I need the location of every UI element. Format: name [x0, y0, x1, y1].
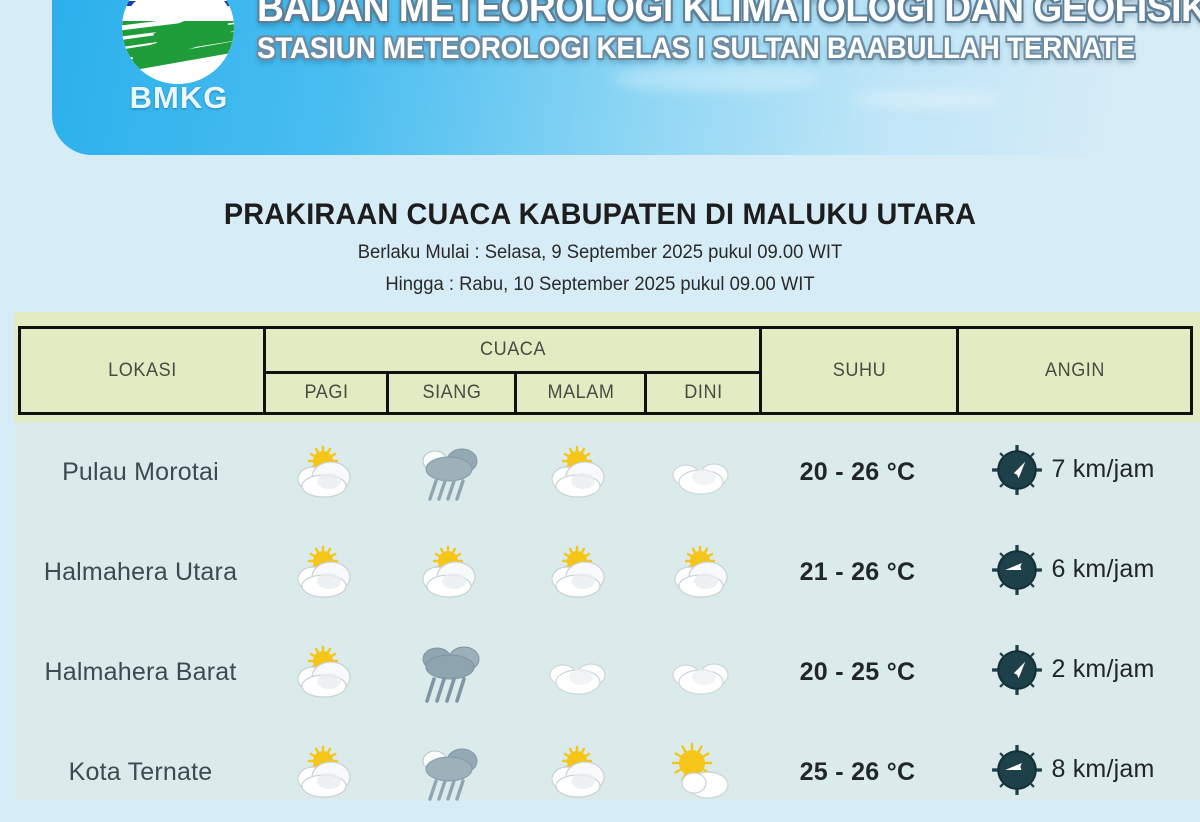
valid-from-text: Berlaku Mulai : Selasa, 9 September 2025… [18, 242, 1182, 264]
bmkg-logo-icon [122, 0, 234, 84]
col-header-angin: ANGIN [963, 328, 1185, 414]
cell-angin: 7 km/jam [956, 422, 1190, 522]
forecast-table-header: LOKASI CUACA SUHU ANGIN PAGI SIANG MALAM… [18, 326, 1193, 415]
compass-icon [991, 644, 1043, 696]
col-header-siang: SIANG [391, 373, 513, 414]
rain-icon [404, 739, 496, 805]
cell-cuaca-malam [514, 722, 644, 822]
partly-cloudy-icon [279, 539, 371, 605]
cell-cuaca-pagi [263, 422, 386, 522]
cloudy-icon [533, 639, 625, 705]
cell-lokasi: Halmahera Barat [18, 622, 263, 722]
cell-lokasi: Kota Ternate [18, 722, 263, 822]
cell-suhu: 20 - 26 °C [759, 422, 956, 522]
cell-angin: 8 km/jam [956, 722, 1190, 822]
partly-cloudy-icon [533, 539, 625, 605]
banner-title-group: BADAN METEOROLOGI KLIMATOLOGI DAN GEOFIS… [257, 0, 1200, 64]
bmkg-logo-text: BMKG [114, 80, 244, 116]
bmkg-logo: BMKG [114, 0, 244, 122]
cell-cuaca-siang [386, 622, 514, 722]
table-row: Halmahera Utara21 - 26 °C6 km/jam [18, 522, 1190, 622]
partly-cloudy-icon [533, 739, 625, 805]
col-header-dini: DINI [648, 373, 757, 414]
page-title: PRAKIRAAN CUACA KABUPATEN DI MALUKU UTAR… [24, 198, 1176, 232]
table-row: Halmahera Barat20 - 25 °C2 km/jam [18, 622, 1190, 722]
col-header-suhu: SUHU [765, 328, 952, 414]
partly-cloudy-icon [279, 739, 371, 805]
partly-cloudy-icon [404, 539, 496, 605]
compass-icon [991, 444, 1043, 496]
compass-icon [991, 744, 1043, 796]
logo-landscape [122, 21, 234, 84]
title-block: PRAKIRAAN CUACA KABUPATEN DI MALUKU UTAR… [0, 198, 1200, 296]
banner-wisp [612, 66, 822, 92]
cell-cuaca-pagi [263, 722, 386, 822]
table-row: Kota Ternate25 - 26 °C8 km/jam [18, 722, 1190, 822]
cell-cuaca-malam [514, 622, 644, 722]
cell-lokasi: Halmahera Utara [18, 522, 263, 622]
valid-to-text: Hingga : Rabu, 10 September 2025 pukul 0… [18, 274, 1182, 296]
cell-suhu: 20 - 25 °C [759, 622, 956, 722]
rain-icon [404, 439, 496, 505]
partly-cloudy-icon [656, 539, 748, 605]
cell-cuaca-malam [514, 422, 644, 522]
cell-cuaca-siang [386, 522, 514, 622]
forecast-table-body-wrap: Pulau Morotai20 - 26 °C7 km/jamHalmahera… [14, 422, 1200, 800]
cell-cuaca-siang [386, 422, 514, 522]
heavy-rain-icon [404, 639, 496, 705]
cell-cuaca-dini [644, 622, 759, 722]
station-name: STASIUN METEOROLOGI KELAS I SULTAN BAABU… [257, 33, 1187, 65]
mostly-sunny-icon [656, 739, 748, 805]
cell-cuaca-pagi [263, 522, 386, 622]
cell-angin: 2 km/jam [956, 622, 1190, 722]
cloudy-icon [656, 639, 748, 705]
cell-cuaca-dini [644, 522, 759, 622]
cell-cuaca-pagi [263, 622, 386, 722]
cell-cuaca-dini [644, 422, 759, 522]
cell-suhu: 25 - 26 °C [759, 722, 956, 822]
agency-name: BADAN METEOROLOGI KLIMATOLOGI DAN GEOFIS… [257, 0, 1187, 29]
partly-cloudy-icon [279, 439, 371, 505]
col-header-malam: MALAM [519, 373, 643, 414]
wind-speed-label: 2 km/jam [1051, 655, 1154, 684]
header-banner: BMKG BADAN METEOROLOGI KLIMATOLOGI DAN G… [52, 0, 1200, 155]
col-header-cuaca: CUACA [277, 328, 748, 373]
cloudy-icon [656, 439, 748, 505]
compass-icon [991, 544, 1043, 596]
cell-cuaca-siang [386, 722, 514, 822]
partly-cloudy-icon [279, 639, 371, 705]
cell-angin: 6 km/jam [956, 522, 1190, 622]
table-row: Pulau Morotai20 - 26 °C7 km/jam [18, 422, 1190, 522]
wind-speed-label: 8 km/jam [1051, 755, 1154, 784]
wind-speed-label: 7 km/jam [1051, 455, 1154, 484]
forecast-table-body: Pulau Morotai20 - 26 °C7 km/jamHalmahera… [18, 422, 1190, 822]
wind-speed-label: 6 km/jam [1051, 555, 1154, 584]
banner-wisp [852, 90, 1002, 108]
cell-cuaca-dini [644, 722, 759, 822]
cell-lokasi: Pulau Morotai [18, 422, 263, 522]
cell-cuaca-malam [514, 522, 644, 622]
partly-cloudy-icon [533, 439, 625, 505]
col-header-pagi: PAGI [268, 373, 385, 414]
col-header-lokasi: LOKASI [26, 328, 259, 414]
cell-suhu: 21 - 26 °C [759, 522, 956, 622]
